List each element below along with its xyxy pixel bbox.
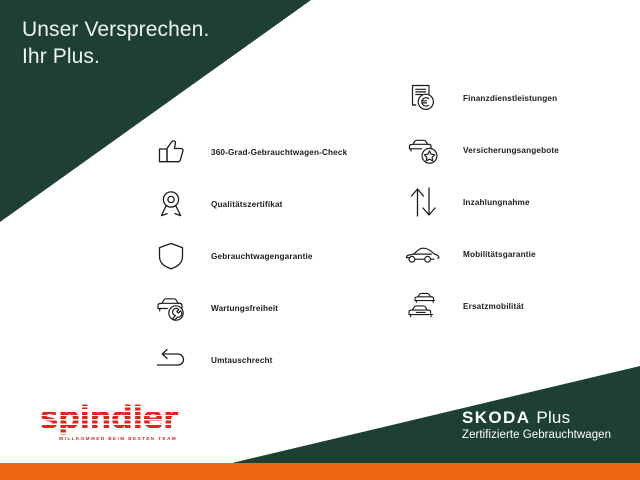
feature-list-right: Finanzdienstleistungen Versicherungsange… xyxy=(400,72,559,332)
thumbs-up-icon xyxy=(148,129,194,175)
feature-item: Gebrauchtwagengarantie xyxy=(148,230,347,282)
feature-label: Ersatzmobilität xyxy=(463,302,524,311)
promo-banner: Unser Versprechen. Ihr Plus. 360-Grad-Ge… xyxy=(0,0,640,480)
up-down-arrows-icon xyxy=(400,179,446,225)
headline-line-1: Unser Versprechen. xyxy=(22,16,209,43)
brand-wordmark-row: SKODA Plus xyxy=(462,408,611,428)
headline: Unser Versprechen. Ihr Plus. xyxy=(22,16,209,70)
brand-wordmark-suffix: Plus xyxy=(536,408,570,428)
feature-label: Finanzdienstleistungen xyxy=(463,94,557,103)
feature-item: Ersatzmobilität xyxy=(400,280,559,332)
feature-label: Qualitätszertifikat xyxy=(211,200,283,209)
car-wrench-icon xyxy=(148,285,194,331)
feature-label: Mobilitätsgarantie xyxy=(463,250,536,259)
document-euro-icon xyxy=(400,75,446,121)
car-star-icon xyxy=(400,127,446,173)
feature-item: Wartungsfreiheit xyxy=(148,282,347,334)
feature-list-left: 360-Grad-Gebrauchtwagen-Check Qualitätsz… xyxy=(148,126,347,386)
brand-subtitle: Zertifizierte Gebrauchtwagen xyxy=(462,429,611,441)
feature-item: Qualitätszertifikat xyxy=(148,178,347,230)
feature-label: Wartungsfreiheit xyxy=(211,304,278,313)
feature-label: Versicherungsangebote xyxy=(463,146,559,155)
dealer-wordmark-text: spindler xyxy=(40,400,178,436)
feature-item: Versicherungsangebote xyxy=(400,124,559,176)
feature-label: 360-Grad-Gebrauchtwagen-Check xyxy=(211,148,347,157)
feature-item: 360-Grad-Gebrauchtwagen-Check xyxy=(148,126,347,178)
dealer-wordmark: spindler xyxy=(40,403,196,434)
quality-rosette-icon xyxy=(148,181,194,227)
headline-line-2: Ihr Plus. xyxy=(22,43,209,70)
brand-logo: SKODA Plus Zertifizierte Gebrauchtwagen xyxy=(462,408,611,441)
feature-label: Inzahlungnahme xyxy=(463,198,530,207)
feature-label: Gebrauchtwagengarantie xyxy=(211,252,313,261)
two-cars-icon xyxy=(400,283,446,329)
brand-wordmark: SKODA xyxy=(462,408,530,428)
car-side-icon xyxy=(400,231,446,277)
dealer-logo: spindler WILLKOMMEN BEIM BESTEN TEAM xyxy=(40,403,196,441)
feature-label: Umtauschrecht xyxy=(211,356,273,365)
return-arrow-icon xyxy=(148,337,194,383)
feature-item: Inzahlungnahme xyxy=(400,176,559,228)
orange-bottom-bar xyxy=(0,463,640,480)
shield-icon xyxy=(148,233,194,279)
feature-item: Mobilitätsgarantie xyxy=(400,228,559,280)
feature-item: Umtauschrecht xyxy=(148,334,347,386)
feature-item: Finanzdienstleistungen xyxy=(400,72,559,124)
dealer-tagline: WILLKOMMEN BEIM BESTEN TEAM xyxy=(40,436,196,441)
